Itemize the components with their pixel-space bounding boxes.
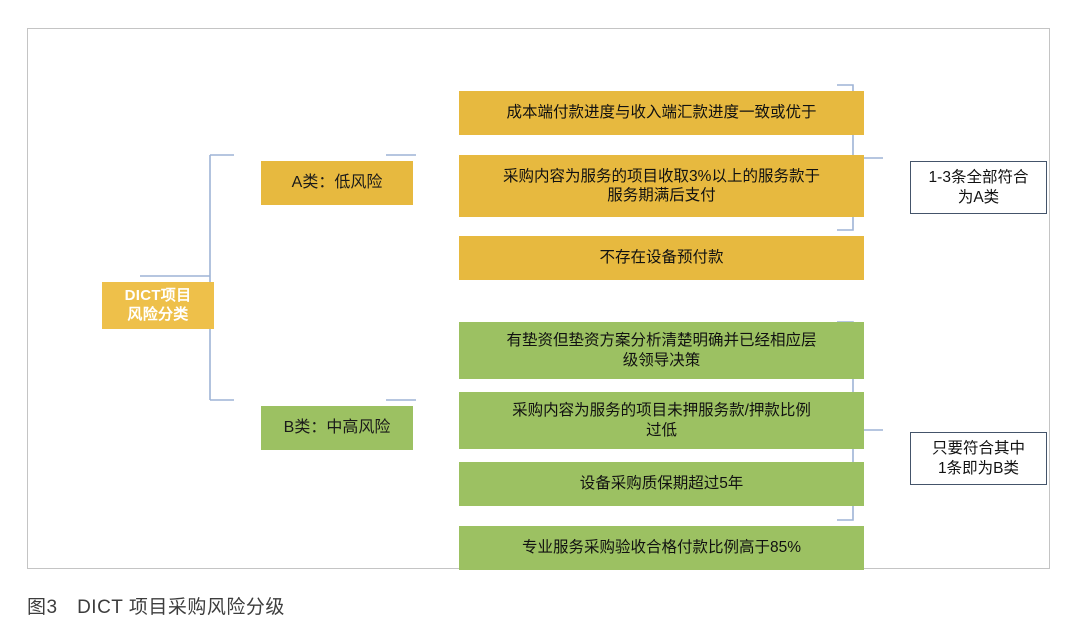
category-node-b-medium-high-risk: B类：中高风险 [261, 406, 413, 450]
condition-b-3: 设备采购质保期超过5年 [459, 462, 864, 506]
result-node-a: 1-3条全部符合 为A类 [910, 161, 1047, 214]
condition-b-1: 有垫资但垫资方案分析清楚明确并已经相应层 级领导决策 [459, 322, 864, 379]
condition-a-2: 采购内容为服务的项目收取3%以上的服务款于 服务期满后支付 [459, 155, 864, 217]
condition-b-4: 专业服务采购验收合格付款比例高于85% [459, 526, 864, 570]
figure-frame: DICT项目 风险分类 A类：低风险 成本端付款进度与收入端汇款进度一致或优于 … [27, 28, 1050, 569]
figure-caption: 图3 DICT 项目采购风险分级 [27, 592, 285, 619]
category-node-a-low-risk: A类：低风险 [261, 161, 413, 205]
condition-a-3: 不存在设备预付款 [459, 236, 864, 280]
result-node-b: 只要符合其中 1条即为B类 [910, 432, 1047, 485]
condition-b-2: 采购内容为服务的项目未押服务款/押款比例 过低 [459, 392, 864, 449]
condition-a-1: 成本端付款进度与收入端汇款进度一致或优于 [459, 91, 864, 135]
root-node-dict-risk-classification: DICT项目 风险分类 [102, 282, 214, 329]
